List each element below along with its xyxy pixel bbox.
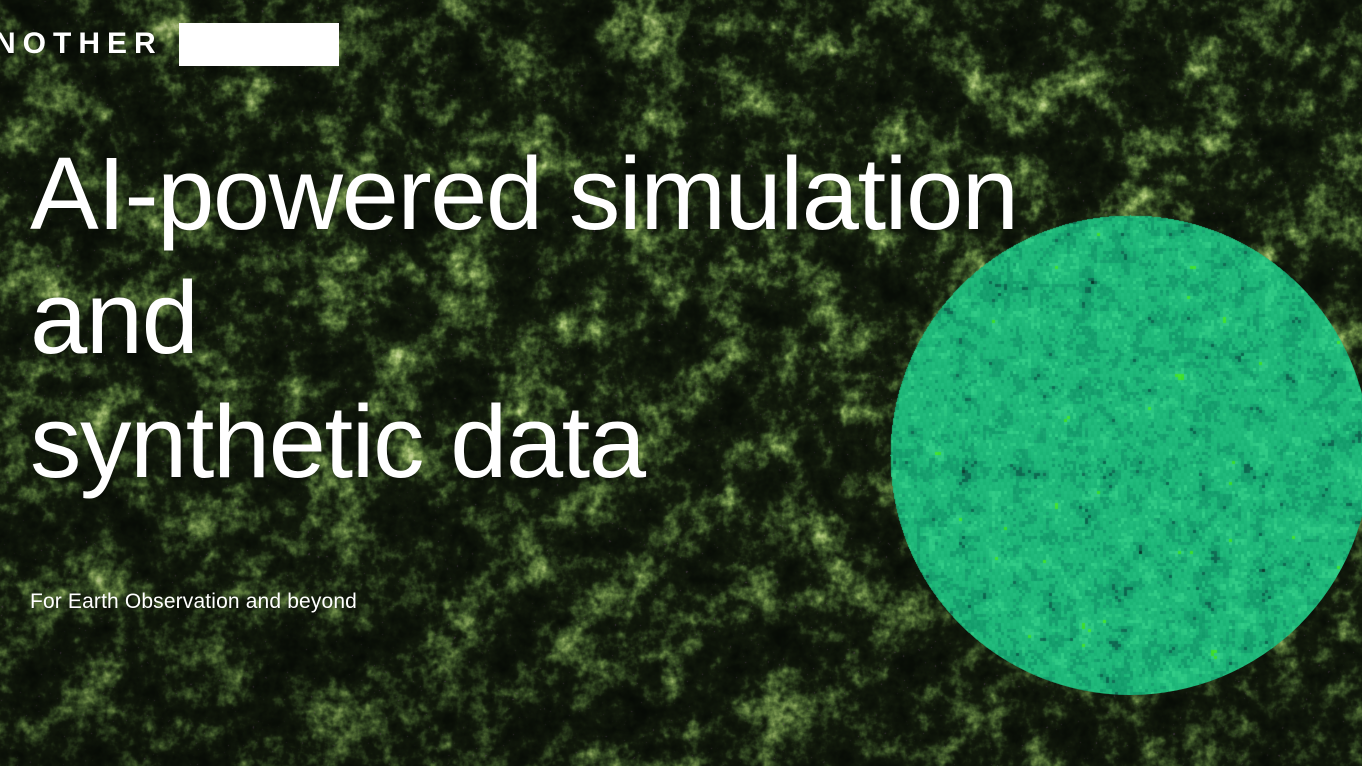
- hero-headline: AI-powered simulation and synthetic data: [30, 132, 1150, 504]
- hero-subtitle: For Earth Observation and beyond: [30, 588, 357, 616]
- logo-word-earth: EARTH: [191, 29, 329, 59]
- hero-section: NOTHER EARTH AI-powered simulation and s…: [0, 0, 1362, 766]
- headline-line-2: and: [30, 256, 1150, 380]
- logo-word-another: NOTHER: [0, 22, 163, 66]
- headline-line-1: AI-powered simulation: [30, 132, 1150, 256]
- logo-box-earth: EARTH: [179, 23, 339, 66]
- headline-line-3: synthetic data: [30, 380, 1150, 504]
- another-earth-logo[interactable]: NOTHER EARTH: [0, 22, 339, 66]
